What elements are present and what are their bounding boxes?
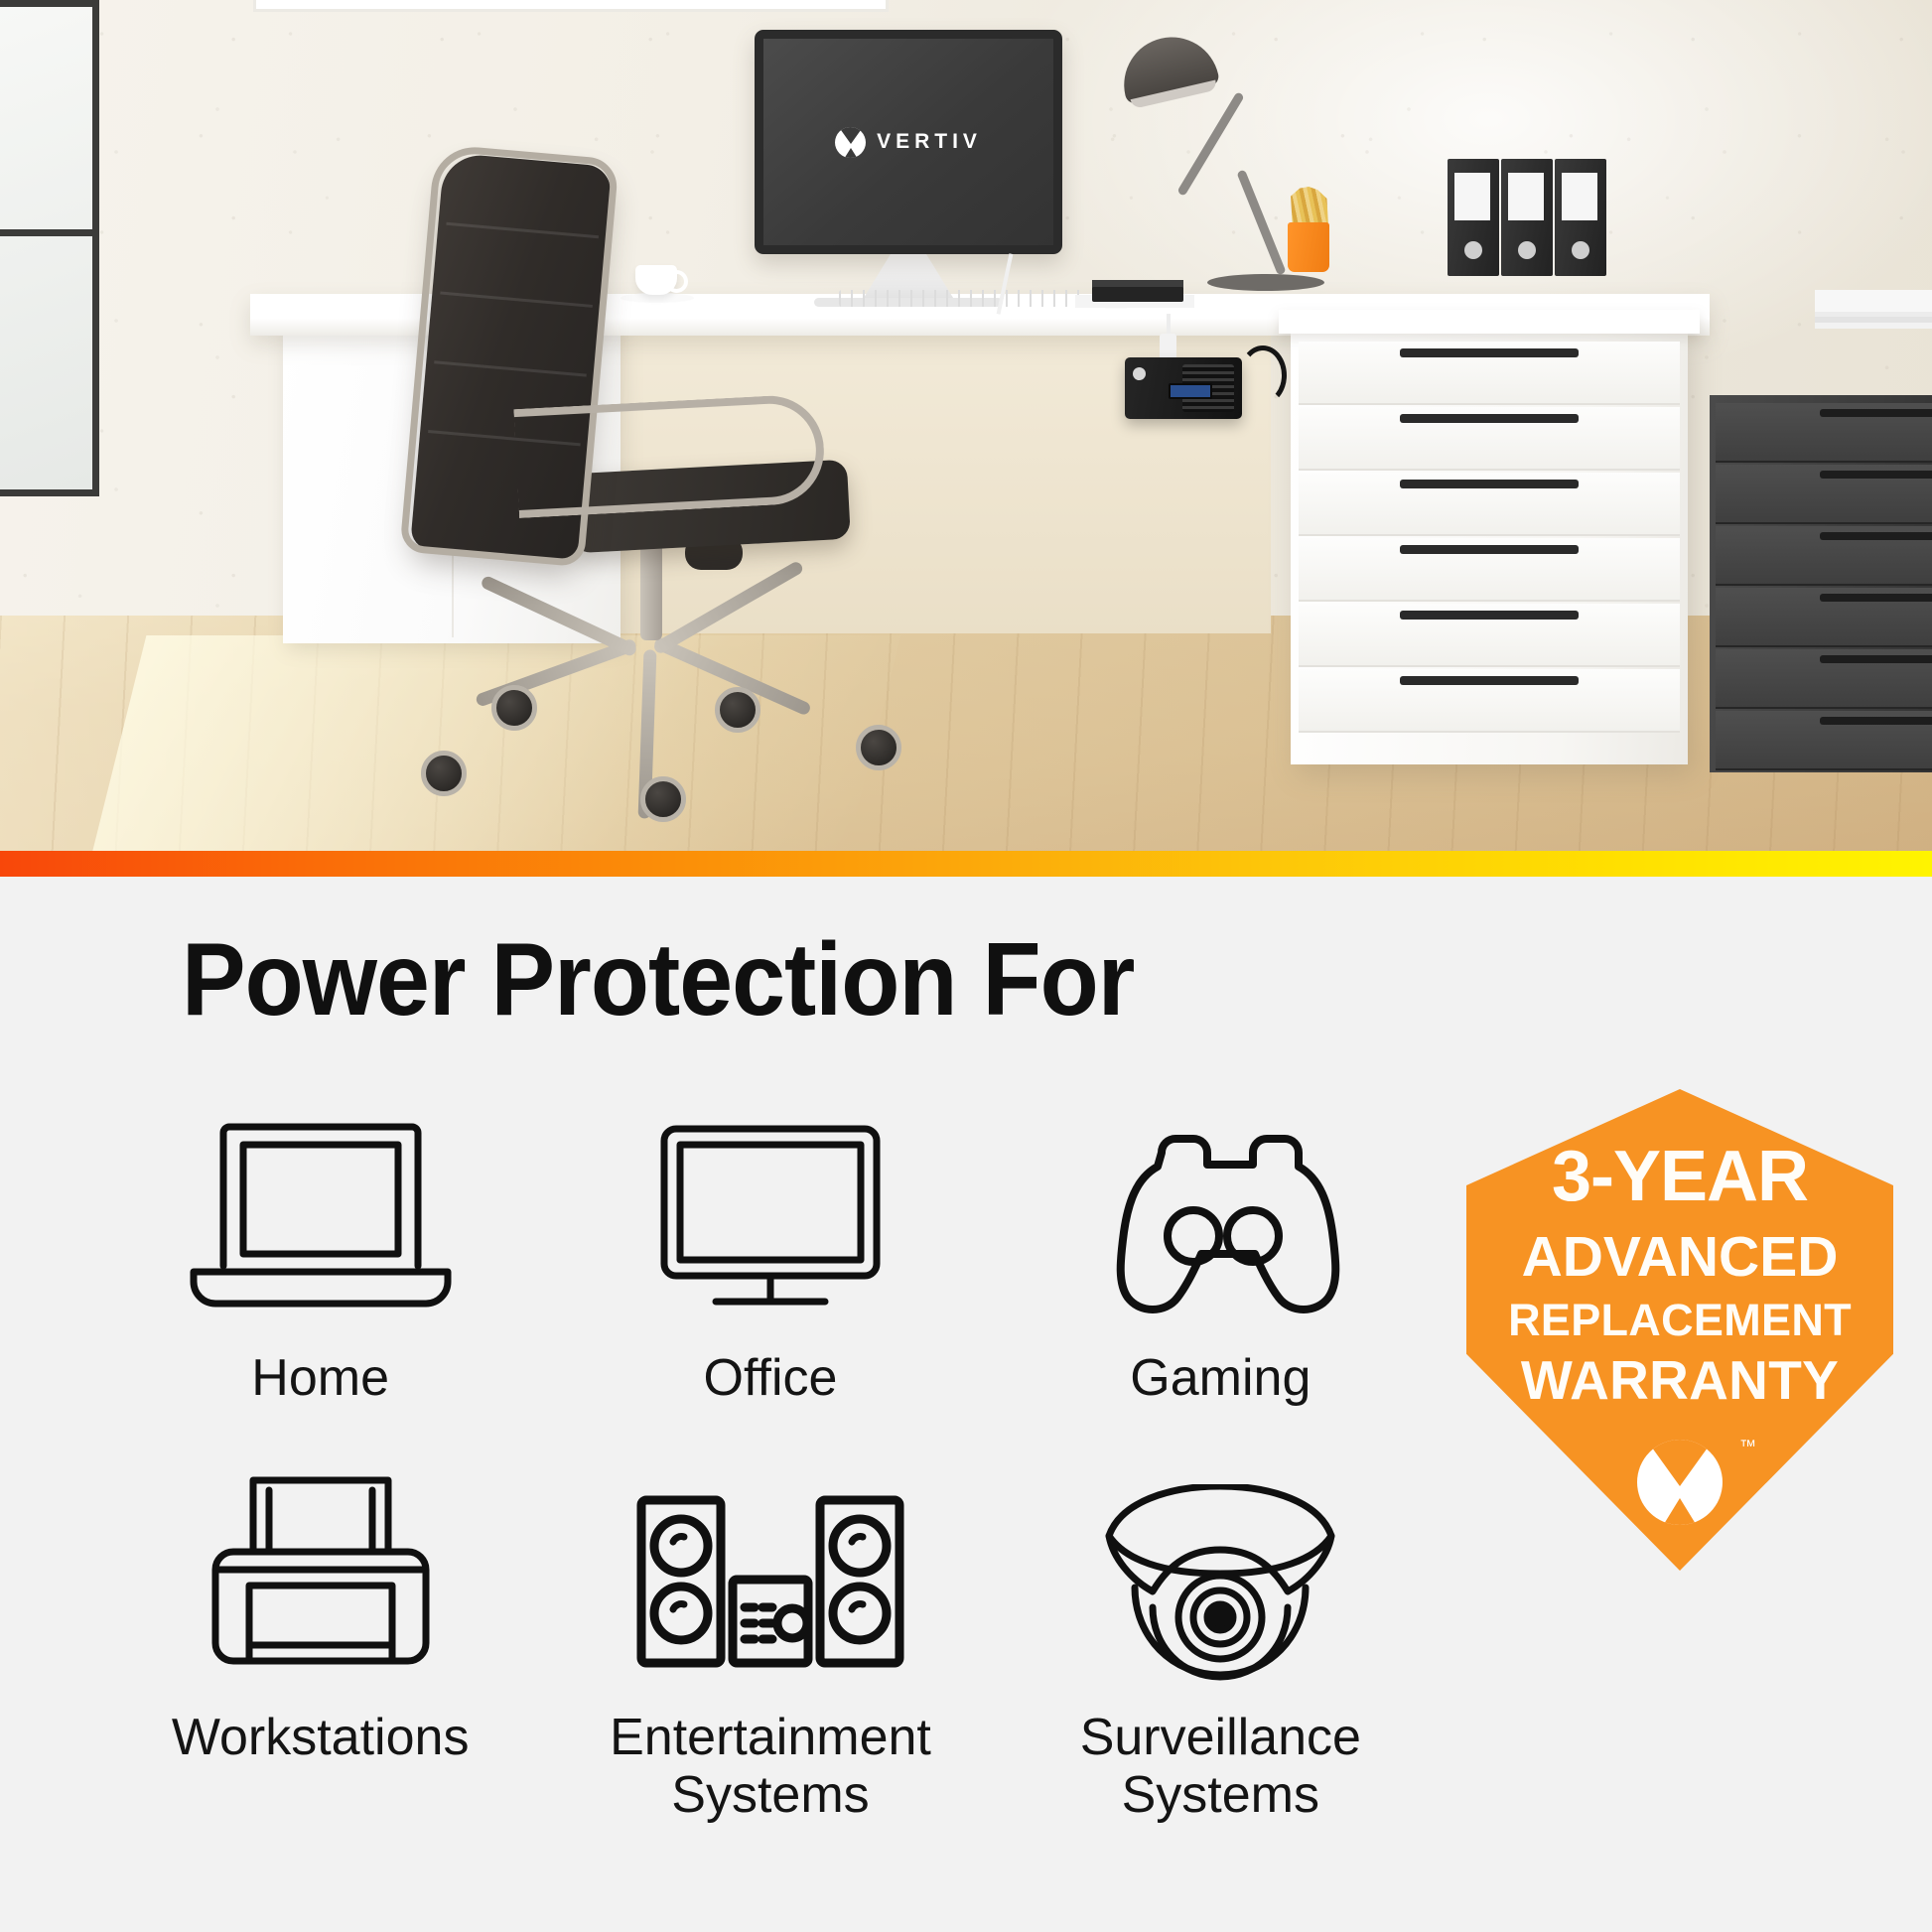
use-case-home[interactable]: Home	[95, 1095, 545, 1407]
badge-line-2: ADVANCED	[1522, 1228, 1839, 1288]
laptop-icon	[172, 1115, 470, 1323]
drawer	[1716, 649, 1932, 709]
use-case-label: Home	[251, 1349, 389, 1407]
ups-battery-backup	[1125, 357, 1242, 419]
keyboard	[839, 290, 1087, 307]
monitor-logo-text: VERTIV	[877, 130, 982, 154]
chair-caster	[856, 725, 901, 770]
sunlight-patch	[92, 635, 901, 851]
warranty-badge: 3-YEAR ADVANCED REPLACEMENT WARRANTY	[1466, 1089, 1893, 1571]
black-notebook	[1092, 286, 1183, 302]
use-case-gaming[interactable]: Gaming	[996, 1095, 1446, 1407]
chair-caster	[640, 776, 686, 822]
desktop-monitor: VERTIV	[755, 30, 1062, 254]
pencil-cup	[1288, 222, 1329, 272]
white-dresser	[1291, 328, 1688, 764]
chair-caster	[421, 751, 467, 796]
laptop-art	[172, 1095, 470, 1323]
binder	[1448, 159, 1499, 276]
chair-gas-column	[640, 541, 662, 640]
badge-line-3: REPLACEMENT	[1508, 1297, 1852, 1343]
trademark-symbol: ™	[1739, 1437, 1756, 1456]
paper-stack	[1815, 290, 1932, 312]
badge-line-4: WARRANTY	[1521, 1352, 1839, 1410]
drawer	[1299, 604, 1680, 667]
hero-photo: VERTIV	[0, 0, 1932, 851]
drawer	[1299, 473, 1680, 536]
drawer	[1716, 588, 1932, 647]
window	[0, 0, 99, 496]
drawer	[1299, 669, 1680, 733]
ups-cable	[1239, 345, 1287, 405]
wall-panel	[253, 0, 889, 12]
use-case-workstations[interactable]: Workstations	[95, 1454, 545, 1824]
lower-panel: Power Protection For Home	[0, 877, 1932, 1932]
gradient-divider	[0, 851, 1932, 877]
drawer	[1299, 407, 1680, 471]
ups-brand-badge	[1133, 367, 1146, 380]
stereo-icon	[621, 1484, 919, 1683]
monitor-icon	[636, 1115, 904, 1323]
use-case-office[interactable]: Office	[545, 1095, 995, 1407]
dresser-top	[1279, 310, 1700, 334]
stereo-art	[621, 1454, 919, 1683]
binder	[1501, 159, 1553, 276]
chair-caster	[491, 685, 537, 731]
shield-text-stack: 3-YEAR ADVANCED REPLACEMENT WARRANTY	[1466, 1089, 1893, 1571]
desk-lamp-base	[1207, 274, 1324, 291]
use-case-entertainment[interactable]: EntertainmentSystems	[545, 1454, 995, 1824]
use-case-label: Workstations	[172, 1709, 470, 1766]
dome-camera-art	[1091, 1454, 1349, 1683]
use-case-label: EntertainmentSystems	[610, 1709, 931, 1824]
drawer	[1716, 403, 1932, 463]
use-case-surveillance[interactable]: SurveillanceSystems	[996, 1454, 1446, 1824]
page-title: Power Protection For	[182, 921, 1134, 1039]
use-case-label: Gaming	[1130, 1349, 1311, 1407]
drawer	[1299, 538, 1680, 602]
drawer	[1716, 465, 1932, 524]
printer-icon	[182, 1464, 460, 1683]
drawer	[1716, 526, 1932, 586]
dome-camera-icon	[1091, 1484, 1349, 1683]
dark-chest	[1710, 395, 1932, 772]
use-case-grid: Home Office	[95, 1095, 1446, 1825]
gamepad-icon	[1076, 1125, 1364, 1323]
chair-caster	[715, 687, 760, 733]
gamepad-art	[1076, 1095, 1364, 1323]
vertiv-logo-icon	[835, 127, 866, 158]
monitor-art	[636, 1095, 904, 1323]
marketing-infographic: VERTIV	[0, 0, 1932, 1932]
vertiv-logo-icon	[1637, 1440, 1723, 1525]
use-case-label: SurveillanceSystems	[1080, 1709, 1361, 1824]
chair-armrest	[513, 393, 826, 518]
binder	[1555, 159, 1606, 276]
badge-line-1: 3-YEAR	[1552, 1141, 1808, 1212]
drawer	[1299, 342, 1680, 405]
monitor-screen: VERTIV	[763, 39, 1053, 245]
printer-art	[182, 1454, 460, 1683]
drawer	[1716, 711, 1932, 770]
coffee-mug	[635, 265, 677, 295]
use-case-label: Office	[704, 1349, 838, 1407]
ups-lcd-display	[1169, 383, 1212, 399]
